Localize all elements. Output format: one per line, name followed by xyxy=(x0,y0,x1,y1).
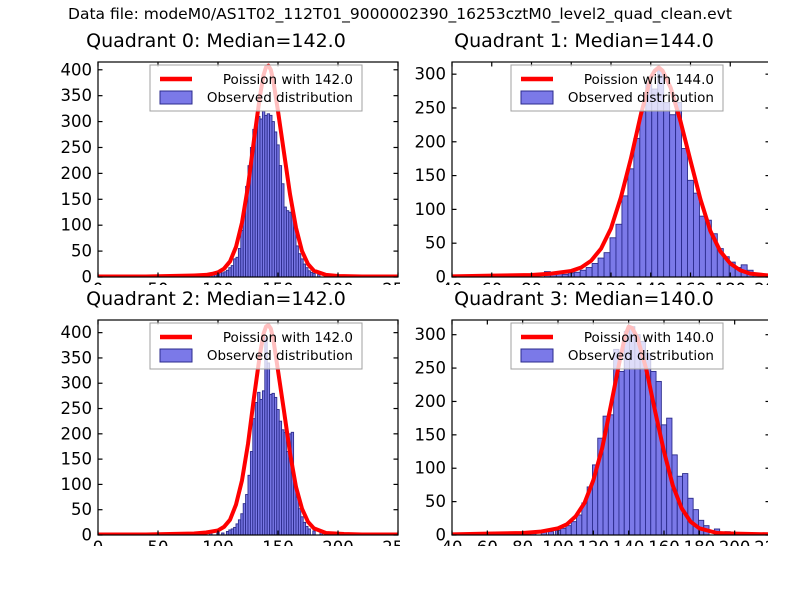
histogram-bar xyxy=(683,474,688,535)
histogram-bars xyxy=(111,111,339,277)
y-tick-label: 300 xyxy=(61,112,93,131)
x-tick-label: 80 xyxy=(512,538,533,546)
y-tick-label: 250 xyxy=(415,359,447,378)
x-tick-label: 150 xyxy=(262,538,294,546)
x-tick-label: 120 xyxy=(595,280,627,285)
y-tick-label: 250 xyxy=(61,138,93,157)
histogram-bar xyxy=(571,522,576,535)
histogram-bar xyxy=(577,515,582,535)
legend-label-poisson: Poission with 142.0 xyxy=(223,330,353,346)
y-tick-label: 150 xyxy=(61,450,93,469)
x-tick-label: 50 xyxy=(148,280,169,285)
histogram-bar xyxy=(604,253,610,277)
histogram-bar xyxy=(592,263,598,277)
x-tick-label: 140 xyxy=(613,538,645,546)
histogram-bar xyxy=(652,89,658,277)
axes-quadrant-3: 4060801001201401601802002200501001502002… xyxy=(400,288,768,546)
legend[interactable]: Poission with 142.0Observed distribution xyxy=(150,323,362,369)
legend-label-observed: Observed distribution xyxy=(207,348,353,364)
histogram-bar xyxy=(586,268,592,277)
axes-quadrant-1: 4060801001201401601802000501001502002503… xyxy=(400,30,768,285)
y-tick-label: 100 xyxy=(61,216,93,235)
y-tick-label: 400 xyxy=(61,323,93,342)
y-tick-label: 0 xyxy=(436,268,447,286)
axes-quadrant-2: 050100150200250050100150200250300350400P… xyxy=(32,288,400,546)
y-tick-label: 50 xyxy=(71,500,92,519)
histogram-bar xyxy=(664,103,670,277)
legend[interactable]: Poission with 142.0Observed distribution xyxy=(150,65,362,111)
legend-label-poisson: Poission with 144.0 xyxy=(584,72,714,88)
legend[interactable]: Poission with 144.0Observed distribution xyxy=(511,65,723,111)
legend-patch-swatch xyxy=(160,91,192,104)
x-tick-label: 60 xyxy=(481,280,502,285)
histogram-bar xyxy=(313,531,315,535)
y-tick-label: 300 xyxy=(415,325,447,344)
y-tick-label: 400 xyxy=(61,60,93,79)
histogram-bar xyxy=(598,258,604,277)
legend-patch-swatch xyxy=(160,349,192,362)
histogram-bar xyxy=(566,526,571,535)
histogram-bar xyxy=(628,169,634,277)
histogram-bar xyxy=(610,238,616,277)
x-tick-label: 80 xyxy=(521,280,542,285)
histogram-bar xyxy=(619,371,624,535)
histogram-bar xyxy=(616,224,622,277)
y-tick-label: 0 xyxy=(82,526,93,545)
y-tick-label: 200 xyxy=(61,164,93,183)
legend-label-poisson: Poission with 142.0 xyxy=(223,72,353,88)
histogram-bar xyxy=(693,193,699,277)
histogram-bar xyxy=(670,115,676,277)
subplot-quadrant-1: Quadrant 1: Median=144.0 406080100120140… xyxy=(400,30,768,285)
y-tick-label: 250 xyxy=(415,98,447,117)
x-tick-label: 180 xyxy=(715,280,747,285)
figure-canvas: Data file: modeM0/AS1T02_112T01_90000023… xyxy=(0,0,800,600)
x-tick-label: 0 xyxy=(93,280,104,285)
y-tick-label: 300 xyxy=(415,65,447,84)
x-tick-label: 140 xyxy=(635,280,667,285)
y-tick-label: 300 xyxy=(61,374,93,393)
histogram-bar xyxy=(682,149,688,277)
histogram-bar xyxy=(308,529,310,535)
x-tick-label: 200 xyxy=(322,538,354,546)
histogram-bar xyxy=(646,84,652,277)
y-tick-label: 100 xyxy=(61,475,93,494)
histogram-bar xyxy=(622,196,628,277)
y-tick-label: 100 xyxy=(415,459,447,478)
y-tick-label: 150 xyxy=(415,166,447,185)
y-tick-label: 350 xyxy=(61,348,93,367)
histogram-bar xyxy=(608,415,613,535)
y-tick-label: 250 xyxy=(61,399,93,418)
y-tick-label: 50 xyxy=(425,492,446,511)
y-tick-label: 0 xyxy=(436,526,447,545)
legend[interactable]: Poission with 140.0Observed distribution xyxy=(511,323,723,369)
y-tick-label: 200 xyxy=(415,392,447,411)
histogram-bar xyxy=(561,528,566,535)
y-tick-label: 0 xyxy=(82,268,93,286)
x-tick-label: 160 xyxy=(675,280,707,285)
y-tick-label: 50 xyxy=(425,234,446,253)
x-tick-label: 250 xyxy=(382,280,400,285)
y-tick-label: 150 xyxy=(61,190,93,209)
x-tick-label: 200 xyxy=(322,280,354,285)
legend-label-poisson: Poission with 140.0 xyxy=(584,330,714,346)
histogram-bar xyxy=(640,111,646,277)
y-tick-label: 200 xyxy=(415,132,447,151)
x-tick-label: 200 xyxy=(719,538,751,546)
x-tick-label: 100 xyxy=(202,280,234,285)
y-tick-label: 50 xyxy=(71,242,92,261)
histogram-bar xyxy=(688,180,694,277)
histogram-bar xyxy=(574,272,580,277)
y-tick-label: 350 xyxy=(61,86,93,105)
x-tick-label: 50 xyxy=(148,538,169,546)
histogram-bar xyxy=(580,270,586,277)
histogram-bar xyxy=(699,216,705,277)
legend-patch-swatch xyxy=(521,91,553,104)
x-tick-label: 100 xyxy=(556,280,588,285)
x-tick-label: 150 xyxy=(262,280,294,285)
y-tick-label: 200 xyxy=(61,424,93,443)
legend-patch-swatch xyxy=(521,349,553,362)
x-tick-label: 60 xyxy=(477,538,498,546)
legend-label-observed: Observed distribution xyxy=(207,90,353,106)
x-tick-label: 200 xyxy=(754,280,768,285)
histogram-bar xyxy=(656,381,661,535)
figure-suptitle: Data file: modeM0/AS1T02_112T01_90000023… xyxy=(0,5,800,23)
subplot-quadrant-0: Quadrant 0: Median=142.0 050100150200250… xyxy=(32,30,400,285)
subplot-quadrant-3: Quadrant 3: Median=140.0 406080100120140… xyxy=(400,288,768,546)
x-tick-label: 180 xyxy=(684,538,716,546)
y-tick-label: 150 xyxy=(415,425,447,444)
subplot-quadrant-2: Quadrant 2: Median=142.0 050100150200250… xyxy=(32,288,400,546)
x-tick-label: 100 xyxy=(542,538,574,546)
legend-label-observed: Observed distribution xyxy=(568,90,714,106)
x-tick-label: 0 xyxy=(93,538,104,546)
histogram-bar xyxy=(634,138,640,277)
y-tick-label: 100 xyxy=(415,200,447,219)
x-tick-label: 250 xyxy=(382,538,400,546)
legend-label-observed: Observed distribution xyxy=(568,348,714,364)
x-tick-label: 160 xyxy=(648,538,680,546)
x-tick-label: 220 xyxy=(754,538,768,546)
x-tick-label: 120 xyxy=(578,538,610,546)
axes-quadrant-0: 050100150200250050100150200250300350400P… xyxy=(32,30,400,285)
x-tick-label: 100 xyxy=(202,538,234,546)
